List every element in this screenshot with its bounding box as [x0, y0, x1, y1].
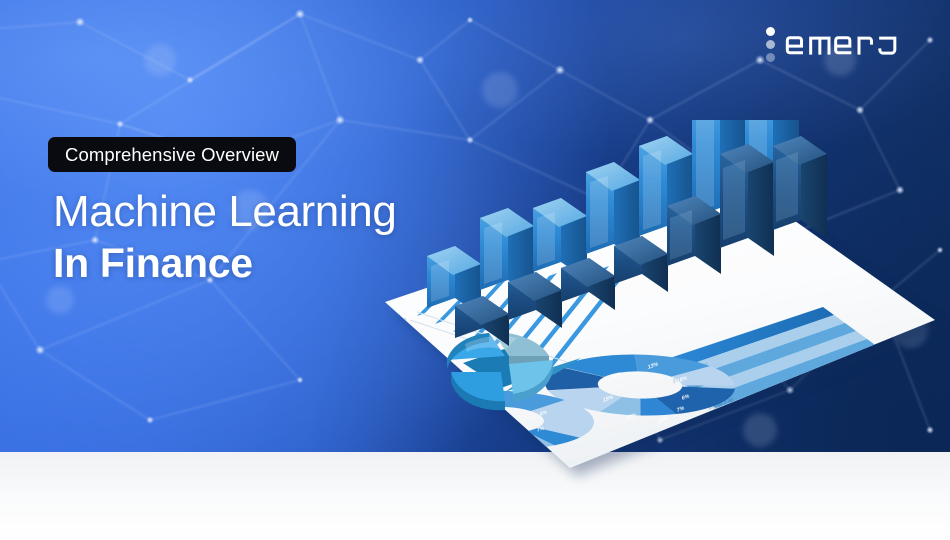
svg-text:7 8.58 8.45: 7 8.58 8.45 [745, 424, 770, 439]
three-dots-icon [766, 27, 775, 62]
svg-text:6 1.38 7.4: 6 1.38 7.4 [733, 416, 755, 430]
status-badge: Comprehensive Overview [48, 137, 296, 172]
poster-canvas: Comprehensive Overview Machine Learning … [0, 0, 950, 540]
svg-text:14%: 14% [521, 439, 532, 449]
3d-business-analytics-illustration: Rate Total 1 2.34 19.43 2 8.79 43.68 3 1… [355, 120, 950, 520]
emerj-wordmark [784, 29, 926, 59]
page-title-line-1: Machine Learning [53, 187, 396, 237]
page-title-line-2: In Finance [53, 240, 253, 287]
svg-text:13%: 13% [488, 444, 499, 454]
brand-logo[interactable] [766, 22, 926, 66]
svg-text:14%: 14% [463, 428, 474, 438]
